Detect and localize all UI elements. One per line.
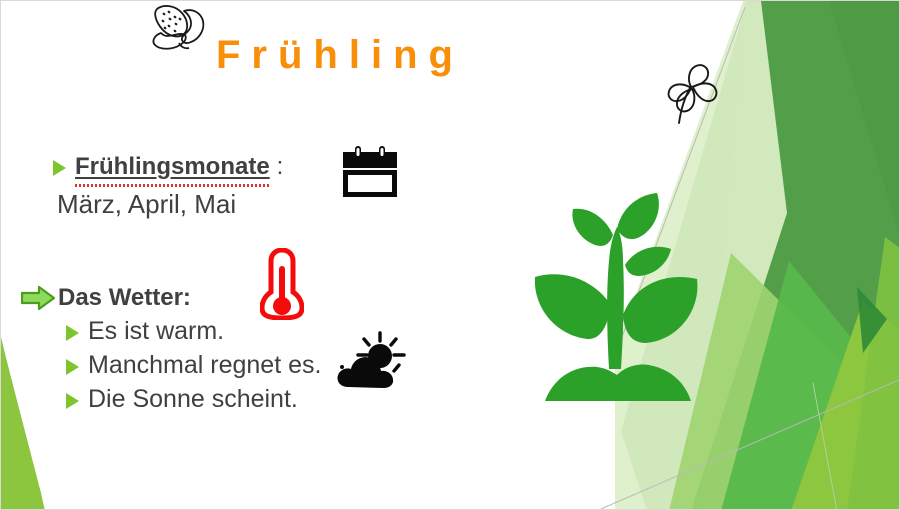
weather-heading: Das Wetter: xyxy=(58,284,191,312)
weather-heading-row: Das Wetter: xyxy=(21,284,361,312)
decor-green-mid-lower xyxy=(721,261,900,510)
triangle-bullet-icon xyxy=(66,393,79,409)
title-block: Frühling xyxy=(216,29,676,85)
months-bullet-row: Frühlingsmonate : xyxy=(53,153,353,181)
months-term: Frühlingsmonate xyxy=(75,153,270,181)
list-item: Die Sonne scheint. xyxy=(66,385,361,414)
weather-item-text: Es ist warm. xyxy=(88,317,224,346)
sprout-plant-icon xyxy=(521,173,713,405)
spellcheck-underline xyxy=(75,184,270,187)
decor-mid-green-overlay xyxy=(701,1,900,510)
triangle-bullet-icon xyxy=(66,359,79,375)
triangle-bullet-icon xyxy=(53,160,66,176)
months-term-label: Frühlingsmonate xyxy=(75,153,270,180)
weather-item-text: Manchmal regnet es. xyxy=(88,351,321,380)
right-arrow-marker-icon xyxy=(21,285,55,311)
decor-bright-green-right xyxy=(771,1,900,510)
decor-lime-bottom-right xyxy=(791,301,900,510)
corn-icon xyxy=(149,3,215,53)
decor-lime-edge xyxy=(847,237,900,510)
weather-item-text: Die Sonne scheint. xyxy=(88,385,298,414)
decor-dark-accent-sliver xyxy=(857,287,887,353)
decor-hairline-vertical xyxy=(813,383,837,510)
list-item: Es ist warm. xyxy=(66,317,361,346)
weather-content-block: Das Wetter: Es ist warm. Manchmal regnet… xyxy=(21,284,361,414)
list-item: Manchmal regnet es. xyxy=(66,351,361,380)
presentation-slide: Frühling Frühlingsmonate : März, April, … xyxy=(0,0,900,510)
triangle-bullet-icon xyxy=(66,325,79,341)
months-separator: : xyxy=(277,153,284,181)
months-values: März, April, Mai xyxy=(57,189,353,220)
months-content-block: Frühlingsmonate : März, April, Mai xyxy=(53,153,353,220)
page-title: Frühling xyxy=(216,29,676,81)
